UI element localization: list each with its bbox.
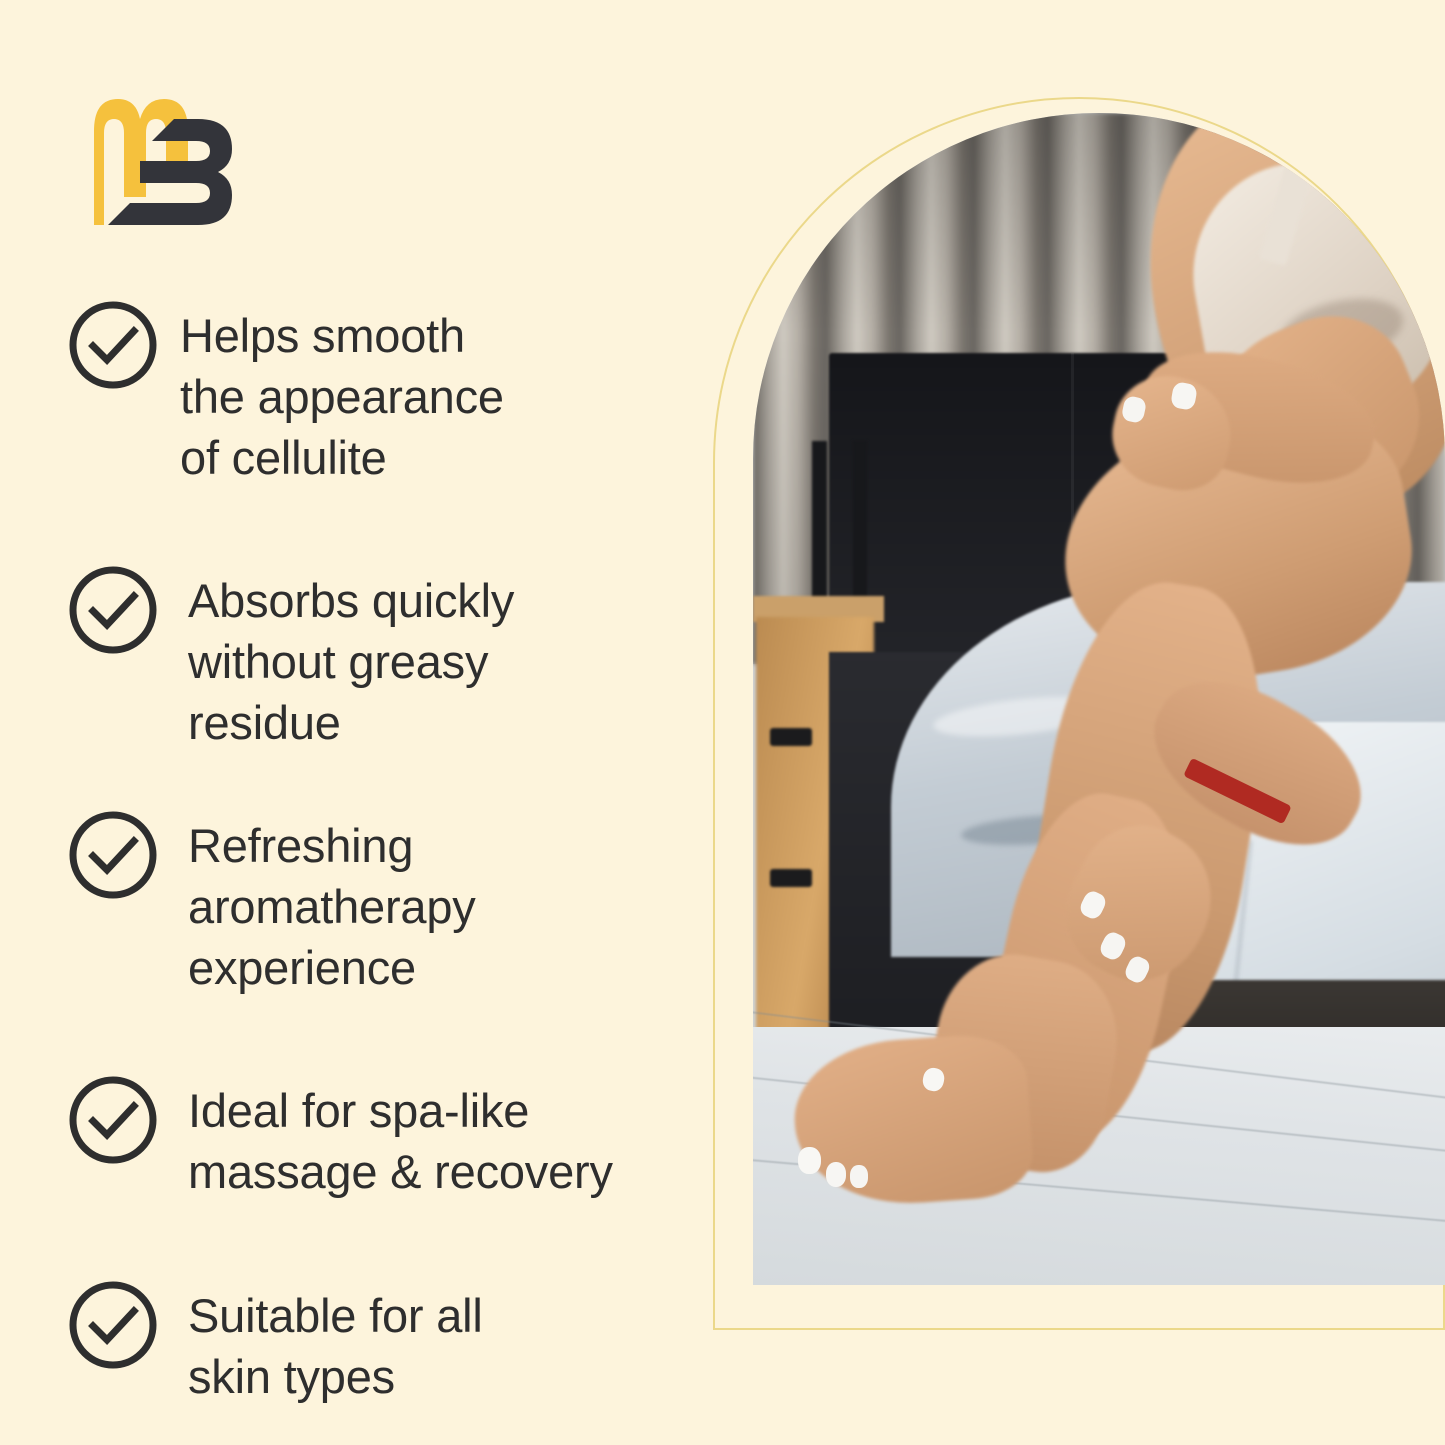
toenail (850, 1165, 868, 1187)
lifestyle-photo (753, 113, 1445, 1285)
toenail (826, 1162, 847, 1187)
nightstand-leg (812, 441, 827, 617)
benefit-item-aromatherapy: Refreshing aromatherapy experience (68, 810, 708, 998)
benefit-label: Helps smooth the appearance of cellulite (180, 300, 504, 488)
check-circle-icon (68, 300, 158, 390)
nightstand-handle (770, 728, 812, 746)
benefit-item-absorbs-quickly: Absorbs quickly without greasy residue (68, 565, 708, 753)
check-circle-icon (68, 1280, 158, 1370)
nightstand-leg (853, 441, 867, 617)
benefit-label: Ideal for spa-like massage & recovery (188, 1075, 613, 1202)
benefit-item-spa-massage: Ideal for spa-like massage & recovery (68, 1075, 708, 1202)
benefits-list: Helps smooth the appearance of cellulite… (0, 0, 700, 1445)
benefit-item-smooth-cellulite: Helps smooth the appearance of cellulite (68, 300, 708, 488)
benefit-label: Absorbs quickly without greasy residue (188, 565, 514, 753)
benefit-label: Suitable for all skin types (188, 1280, 483, 1407)
benefit-label: Refreshing aromatherapy experience (188, 810, 476, 998)
check-circle-icon (68, 1075, 158, 1165)
benefit-item-all-skin-types: Suitable for all skin types (68, 1280, 708, 1407)
check-circle-icon (68, 810, 158, 900)
nightstand-handle (770, 869, 812, 887)
toenail (798, 1147, 822, 1174)
check-circle-icon (68, 565, 158, 655)
